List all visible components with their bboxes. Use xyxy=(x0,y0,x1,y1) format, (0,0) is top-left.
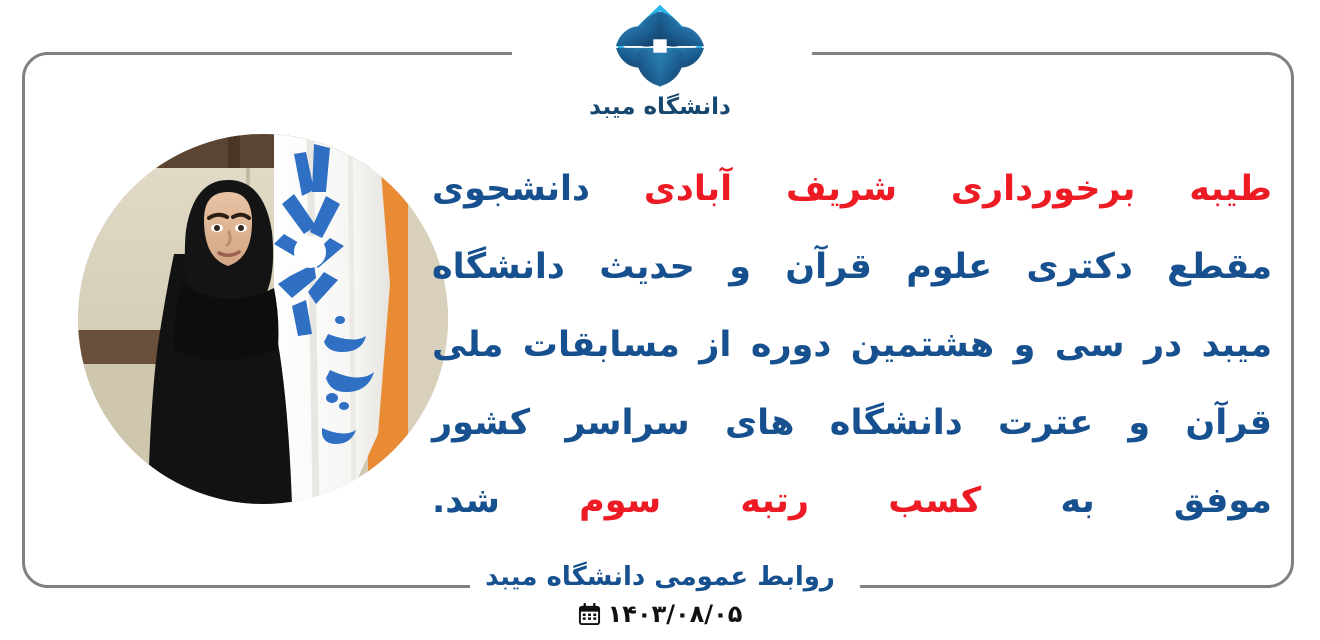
logo-wordmark-icon: دانشگاه میبد xyxy=(585,88,735,122)
headline-segment-5-2: کسب رتبه سوم xyxy=(579,481,981,521)
headline-segment-5-3: شد. xyxy=(432,481,579,521)
portrait-photo xyxy=(78,134,448,504)
footer-date-text: ۱۴۰۳/۰۸/۰۵ xyxy=(608,600,743,628)
headline-segment-5-1: موفق به xyxy=(981,481,1272,521)
poster-root: دانشگاه میبد xyxy=(0,0,1320,640)
headline-segment-3-1: میبد در سی و هشتمین دوره از مسابقات ملی xyxy=(432,325,1272,365)
headline-segment-1-1: طیبه برخورداری شریف آبادی xyxy=(644,169,1272,209)
headline-line-4: قرآن و عترت دانشگاه های سراسر کشور xyxy=(432,384,1272,462)
eight-petal-star-emblem xyxy=(601,2,719,90)
university-logo: دانشگاه میبد xyxy=(0,2,1320,130)
calendar-icon xyxy=(578,603,601,626)
headline-line-2: مقطع دکتری علوم قرآن و حدیث دانشگاه xyxy=(432,228,1272,306)
headline-line-1: طیبه برخورداری شریف آبادی دانشجوی xyxy=(432,150,1272,228)
footer-organization: روابط عمومی دانشگاه میبد xyxy=(0,562,1320,592)
headline-segment-4-1: قرآن و عترت دانشگاه های سراسر کشور xyxy=(432,403,1272,443)
logo-wordmark-text: دانشگاه میبد xyxy=(589,93,731,120)
headline-line-3: میبد در سی و هشتمین دوره از مسابقات ملی xyxy=(432,306,1272,384)
headline-segment-2-1: مقطع دکتری علوم قرآن و حدیث دانشگاه xyxy=(432,247,1272,287)
headline-text: طیبه برخورداری شریف آبادی دانشجویمقطع دک… xyxy=(432,150,1272,540)
footer-date-row: ۱۴۰۳/۰۸/۰۵ xyxy=(0,600,1320,628)
headline-line-5: موفق به کسب رتبه سوم شد. xyxy=(432,462,1272,540)
headline-segment-1-2: دانشجوی xyxy=(432,169,644,209)
portrait-photo-image xyxy=(78,134,448,504)
